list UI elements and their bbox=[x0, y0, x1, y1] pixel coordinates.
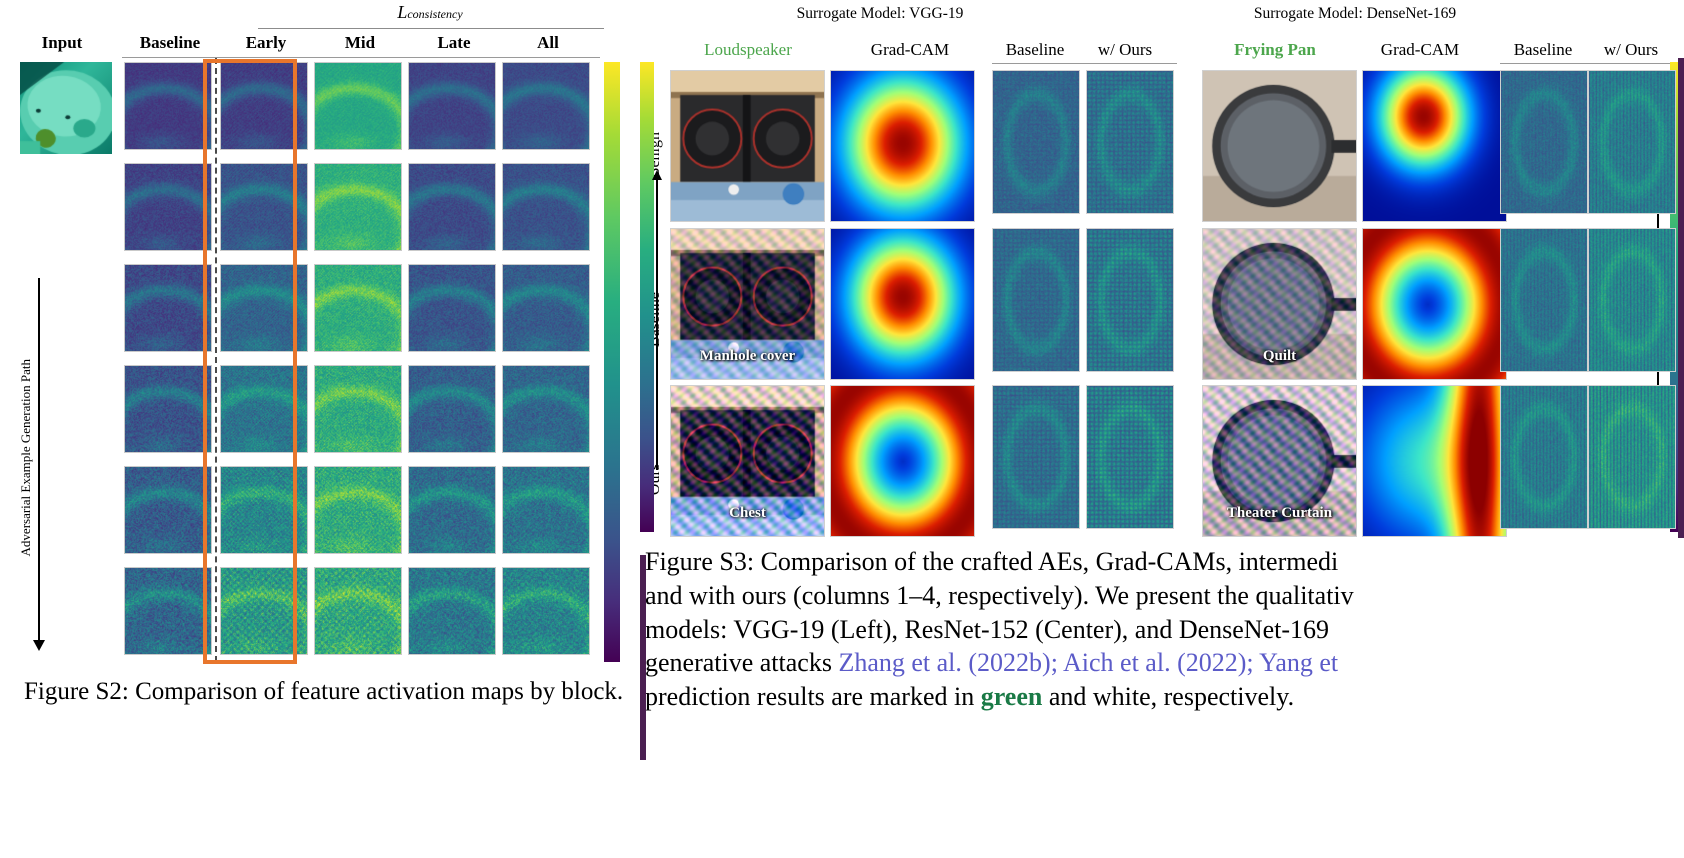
caption-line-2: and with ours (columns 1–4, respectively… bbox=[645, 579, 1684, 613]
prediction-label-manhole-cover: Manhole cover bbox=[671, 348, 824, 365]
column-header-ours-vgg: w/ Ours bbox=[1080, 40, 1170, 60]
figure-s3: Surrogate Model: VGG-19 Surrogate Model:… bbox=[640, 0, 1684, 858]
ae-image-baseline-vgg: Manhole cover bbox=[670, 228, 825, 380]
column-header-gradcam-densenet: Grad-CAM bbox=[1340, 40, 1500, 60]
ae-image-benign-densenet bbox=[1202, 70, 1357, 222]
ae-image-ours-vgg: Chest bbox=[670, 385, 825, 537]
caption-green-word: green bbox=[981, 682, 1043, 711]
viridis-colorbar-left bbox=[640, 62, 654, 532]
column-header-early: Early bbox=[218, 33, 314, 53]
colorbar-arrow-left bbox=[656, 180, 658, 470]
gradcam-ours-densenet bbox=[1362, 385, 1507, 537]
activation-map-cell bbox=[124, 163, 212, 251]
activation-map-cell bbox=[408, 264, 496, 352]
column-header-baseline-vgg: Baseline bbox=[990, 40, 1080, 60]
featuremap-ours-vgg bbox=[1086, 70, 1174, 214]
activation-map-cell bbox=[220, 264, 308, 352]
generation-path-label: Adversarial Example Generation Path bbox=[18, 288, 34, 628]
column-header-gradcam-vgg: Grad-CAM bbox=[830, 40, 990, 60]
page-edge-artifact-right bbox=[1678, 58, 1684, 538]
figure-s2-caption: Figure S2: Comparison of feature activat… bbox=[24, 676, 624, 708]
surrogate-model-title-vgg: Surrogate Model: VGG-19 bbox=[650, 5, 1110, 23]
gradcam-baseline-vgg bbox=[830, 228, 975, 380]
featuremap-ours-densenet bbox=[1588, 70, 1676, 214]
featuremap-baseline-densenet bbox=[1500, 228, 1588, 372]
featuremap-ours-vgg bbox=[1086, 385, 1174, 529]
vgg-subcolumns-rule bbox=[992, 63, 1177, 64]
column-header-ours-densenet: w/ Ours bbox=[1586, 40, 1676, 60]
activation-map-cell bbox=[220, 567, 308, 655]
activation-map-cell bbox=[408, 567, 496, 655]
ae-image-benign-vgg bbox=[670, 70, 825, 222]
activation-map-cell bbox=[124, 365, 212, 453]
activation-map-cell bbox=[502, 264, 590, 352]
gradcam-baseline-densenet bbox=[1362, 228, 1507, 380]
activation-map-cell bbox=[314, 365, 402, 453]
featuremap-baseline-vgg bbox=[992, 228, 1080, 372]
featuremap-baseline-densenet bbox=[1500, 70, 1588, 214]
column-header-late: Late bbox=[406, 33, 502, 53]
activation-map-cell bbox=[314, 264, 402, 352]
densenet-subcolumns-rule bbox=[1500, 63, 1684, 64]
activation-map-cell bbox=[314, 466, 402, 554]
activation-map-cell bbox=[502, 163, 590, 251]
activation-map-cell bbox=[314, 62, 402, 150]
activation-map-cell bbox=[408, 62, 496, 150]
activation-map-cell bbox=[408, 365, 496, 453]
column-header-baseline: Baseline bbox=[122, 33, 218, 53]
page-edge-artifact-left bbox=[640, 555, 646, 760]
gradcam-benign-densenet bbox=[1362, 70, 1507, 222]
activation-map-cell bbox=[220, 466, 308, 554]
activation-map-cell bbox=[220, 62, 308, 150]
activation-map-cell bbox=[502, 567, 590, 655]
gradcam-ours-vgg bbox=[830, 385, 975, 537]
column-header-mid: Mid bbox=[312, 33, 408, 53]
consistency-group-rule bbox=[258, 28, 604, 29]
surrogate-model-title-densenet: Surrogate Model: DenseNet-169 bbox=[1120, 5, 1590, 23]
activation-map-cell bbox=[408, 466, 496, 554]
figure-page: Lconsistency Input Baseline Early Mid La… bbox=[0, 0, 1684, 858]
activation-map-cell bbox=[502, 365, 590, 453]
input-image bbox=[20, 62, 112, 154]
generation-path-axis-line bbox=[38, 278, 40, 646]
caption-line-5-pre: prediction results are marked in bbox=[645, 682, 981, 711]
generation-path-arrow-icon bbox=[33, 640, 45, 651]
featuremap-baseline-vgg bbox=[992, 385, 1080, 529]
featuremap-ours-densenet bbox=[1588, 385, 1676, 529]
activation-map-cell bbox=[502, 466, 590, 554]
featuremap-baseline-densenet bbox=[1500, 385, 1588, 529]
loss-symbol: L bbox=[397, 2, 407, 22]
prediction-label-quilt: Quilt bbox=[1203, 348, 1356, 365]
colorbar-arrowhead-left-icon bbox=[652, 170, 662, 180]
caption-line-4-text: generative attacks bbox=[645, 648, 838, 677]
column-header-all: All bbox=[500, 33, 596, 53]
activation-map-cell bbox=[502, 62, 590, 150]
class-label-frying-pan: Frying Pan bbox=[1200, 40, 1350, 60]
column-header-input: Input bbox=[14, 33, 110, 53]
activation-map-cell bbox=[220, 163, 308, 251]
consistency-loss-header: Lconsistency bbox=[255, 2, 605, 23]
gradcam-benign-vgg bbox=[830, 70, 975, 222]
featuremap-baseline-vgg bbox=[992, 70, 1080, 214]
figure-s3-caption: Figure S3: Comparison of the crafted AEs… bbox=[645, 545, 1684, 714]
column-group-divider bbox=[215, 58, 217, 662]
baseline-column-rule bbox=[122, 57, 218, 58]
featuremap-ours-densenet bbox=[1588, 228, 1676, 372]
caption-line-4: generative attacks Zhang et al. (2022b);… bbox=[645, 646, 1684, 680]
activation-map-cell bbox=[124, 264, 212, 352]
caption-line-5-post: and white, respectively. bbox=[1042, 682, 1294, 711]
ae-image-baseline-densenet: Quilt bbox=[1202, 228, 1357, 380]
ae-image-ours-densenet: Theater Curtain bbox=[1202, 385, 1357, 537]
activation-map-cell bbox=[124, 567, 212, 655]
prediction-label-chest: Chest bbox=[671, 505, 824, 522]
caption-line-1: Figure S3: Comparison of the crafted AEs… bbox=[645, 545, 1684, 579]
consistency-columns-rule bbox=[218, 57, 600, 58]
loss-subscript: consistency bbox=[407, 7, 462, 21]
column-header-baseline-densenet: Baseline bbox=[1498, 40, 1588, 60]
caption-line-5: prediction results are marked in green a… bbox=[645, 680, 1684, 714]
caption-line-3: models: VGG-19 (Left), ResNet-152 (Cente… bbox=[645, 613, 1684, 647]
prediction-label-theater-curtain: Theater Curtain bbox=[1203, 505, 1356, 522]
activation-map-cell bbox=[124, 466, 212, 554]
class-label-loudspeaker: Loudspeaker bbox=[668, 40, 828, 60]
featuremap-ours-vgg bbox=[1086, 228, 1174, 372]
activation-map-cell bbox=[124, 62, 212, 150]
activation-map-cell bbox=[220, 365, 308, 453]
viridis-colorbar-s2 bbox=[604, 62, 620, 662]
activation-map-cell bbox=[408, 163, 496, 251]
figure-s2: Lconsistency Input Baseline Early Mid La… bbox=[0, 0, 640, 858]
activation-map-cell bbox=[314, 567, 402, 655]
caption-citations: Zhang et al. (2022b); Aich et al. (2022)… bbox=[838, 648, 1338, 677]
activation-map-cell bbox=[314, 163, 402, 251]
